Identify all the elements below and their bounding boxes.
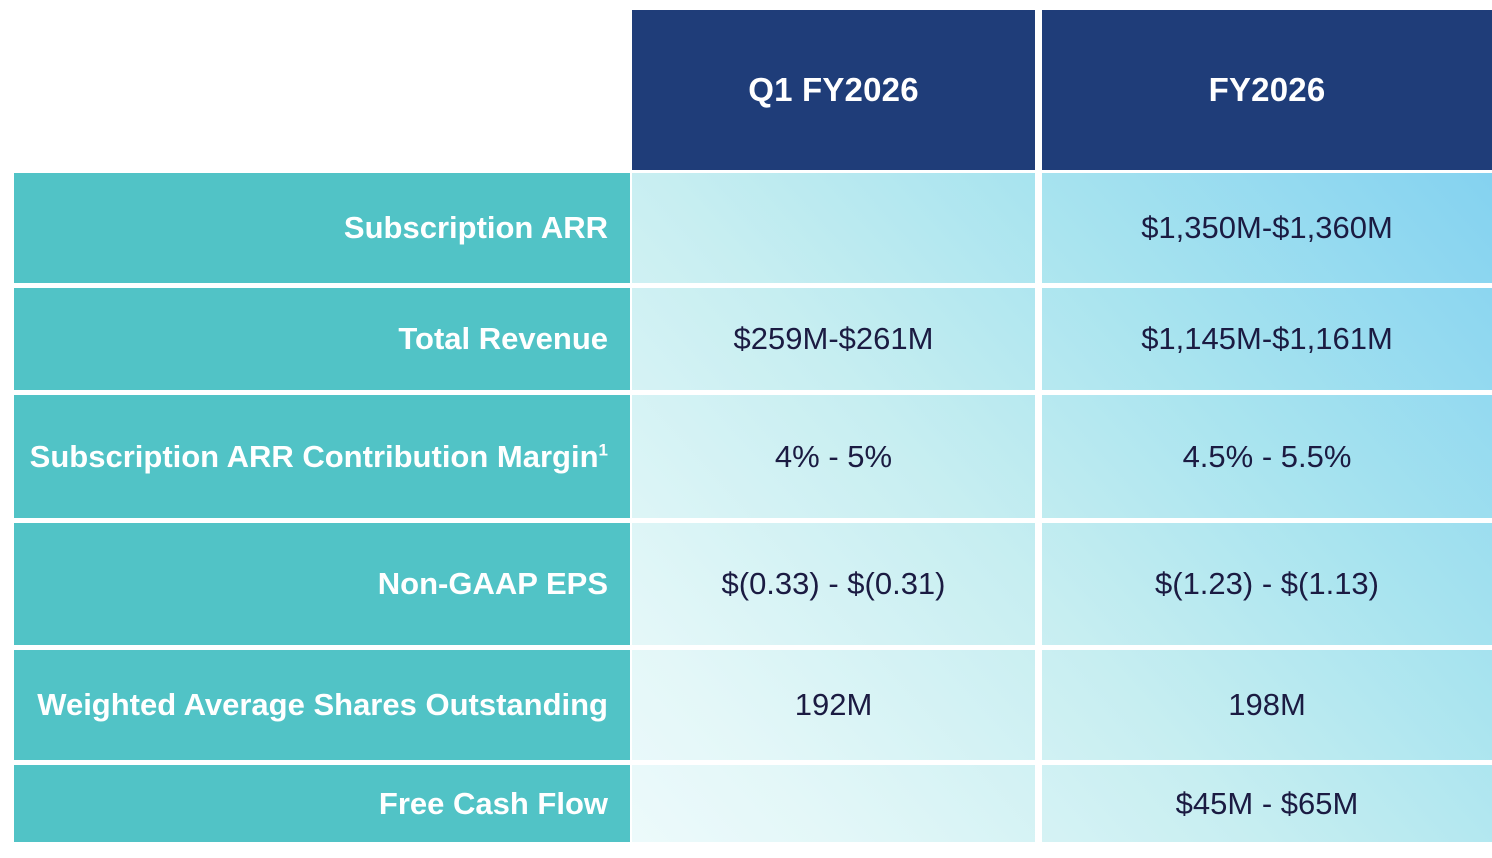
cell-value: $(0.33) - $(0.31) bbox=[722, 566, 946, 602]
cell-weighted-average-shares-outstanding-fy2026: 198M bbox=[1042, 650, 1492, 760]
column-header-fy2026: FY2026 bbox=[1042, 10, 1492, 170]
row-label-cell: Subscription ARR bbox=[14, 173, 630, 283]
cell-subscription-arr-contribution-margin-q1-fy2026: 4% - 5% bbox=[632, 395, 1035, 518]
row-label-non-gaap-eps: Non-GAAP EPS bbox=[378, 566, 608, 602]
row-label-cell: Weighted Average Shares Outstanding bbox=[14, 650, 630, 760]
cell-free-cash-flow-q1-fy2026 bbox=[632, 765, 1035, 842]
financial-guidance-table: Q1 FY2026 FY2026 Subscription ARR $1,350… bbox=[0, 0, 1492, 858]
table-header-row: Q1 FY2026 FY2026 bbox=[0, 10, 1492, 170]
table-row: Subscription ARR Contribution Margin1 4%… bbox=[0, 395, 1492, 518]
cell-value: 4.5% - 5.5% bbox=[1183, 439, 1352, 475]
row-label-cell: Non-GAAP EPS bbox=[14, 523, 630, 645]
row-label-cell: Total Revenue bbox=[14, 288, 630, 390]
footnote-marker: 1 bbox=[599, 440, 608, 459]
cell-value: 192M bbox=[795, 687, 873, 723]
cell-non-gaap-eps-fy2026: $(1.23) - $(1.13) bbox=[1042, 523, 1492, 645]
cell-weighted-average-shares-outstanding-q1-fy2026: 192M bbox=[632, 650, 1035, 760]
row-label-free-cash-flow: Free Cash Flow bbox=[379, 786, 608, 822]
table-row: Non-GAAP EPS $(0.33) - $(0.31) $(1.23) -… bbox=[0, 523, 1492, 645]
row-label-total-revenue: Total Revenue bbox=[398, 321, 608, 357]
column-header-q1-fy2026-label: Q1 FY2026 bbox=[748, 71, 919, 109]
cell-value: $259M-$261M bbox=[734, 321, 934, 357]
cell-value: $1,145M-$1,161M bbox=[1141, 321, 1393, 357]
header-corner-spacer bbox=[14, 10, 630, 170]
cell-total-revenue-q1-fy2026: $259M-$261M bbox=[632, 288, 1035, 390]
table-row: Free Cash Flow $45M - $65M bbox=[0, 765, 1492, 842]
cell-non-gaap-eps-q1-fy2026: $(0.33) - $(0.31) bbox=[632, 523, 1035, 645]
cell-gradient-wash bbox=[632, 765, 1035, 842]
cell-free-cash-flow-fy2026: $45M - $65M bbox=[1042, 765, 1492, 842]
row-label-subscription-arr: Subscription ARR bbox=[344, 210, 608, 246]
table-row: Weighted Average Shares Outstanding 192M… bbox=[0, 650, 1492, 760]
cell-value: 4% - 5% bbox=[775, 439, 892, 475]
row-label-cell: Free Cash Flow bbox=[14, 765, 630, 842]
column-header-q1-fy2026: Q1 FY2026 bbox=[632, 10, 1035, 170]
cell-subscription-arr-fy2026: $1,350M-$1,360M bbox=[1042, 173, 1492, 283]
table-row: Subscription ARR $1,350M-$1,360M bbox=[0, 173, 1492, 283]
row-label-subscription-arr-contribution-margin: Subscription ARR Contribution Margin1 bbox=[30, 439, 608, 475]
column-header-fy2026-label: FY2026 bbox=[1209, 71, 1326, 109]
cell-value: $1,350M-$1,360M bbox=[1141, 210, 1393, 246]
row-label-cell: Subscription ARR Contribution Margin1 bbox=[14, 395, 630, 518]
row-label-weighted-average-shares-outstanding: Weighted Average Shares Outstanding bbox=[37, 687, 608, 723]
cell-subscription-arr-contribution-margin-fy2026: 4.5% - 5.5% bbox=[1042, 395, 1492, 518]
cell-gradient-wash bbox=[632, 173, 1035, 283]
cell-value: $(1.23) - $(1.13) bbox=[1155, 566, 1379, 602]
cell-total-revenue-fy2026: $1,145M-$1,161M bbox=[1042, 288, 1492, 390]
cell-value: $45M - $65M bbox=[1176, 786, 1359, 822]
cell-value: 198M bbox=[1228, 687, 1306, 723]
table-row: Total Revenue $259M-$261M $1,145M-$1,161… bbox=[0, 288, 1492, 390]
cell-subscription-arr-q1-fy2026 bbox=[632, 173, 1035, 283]
